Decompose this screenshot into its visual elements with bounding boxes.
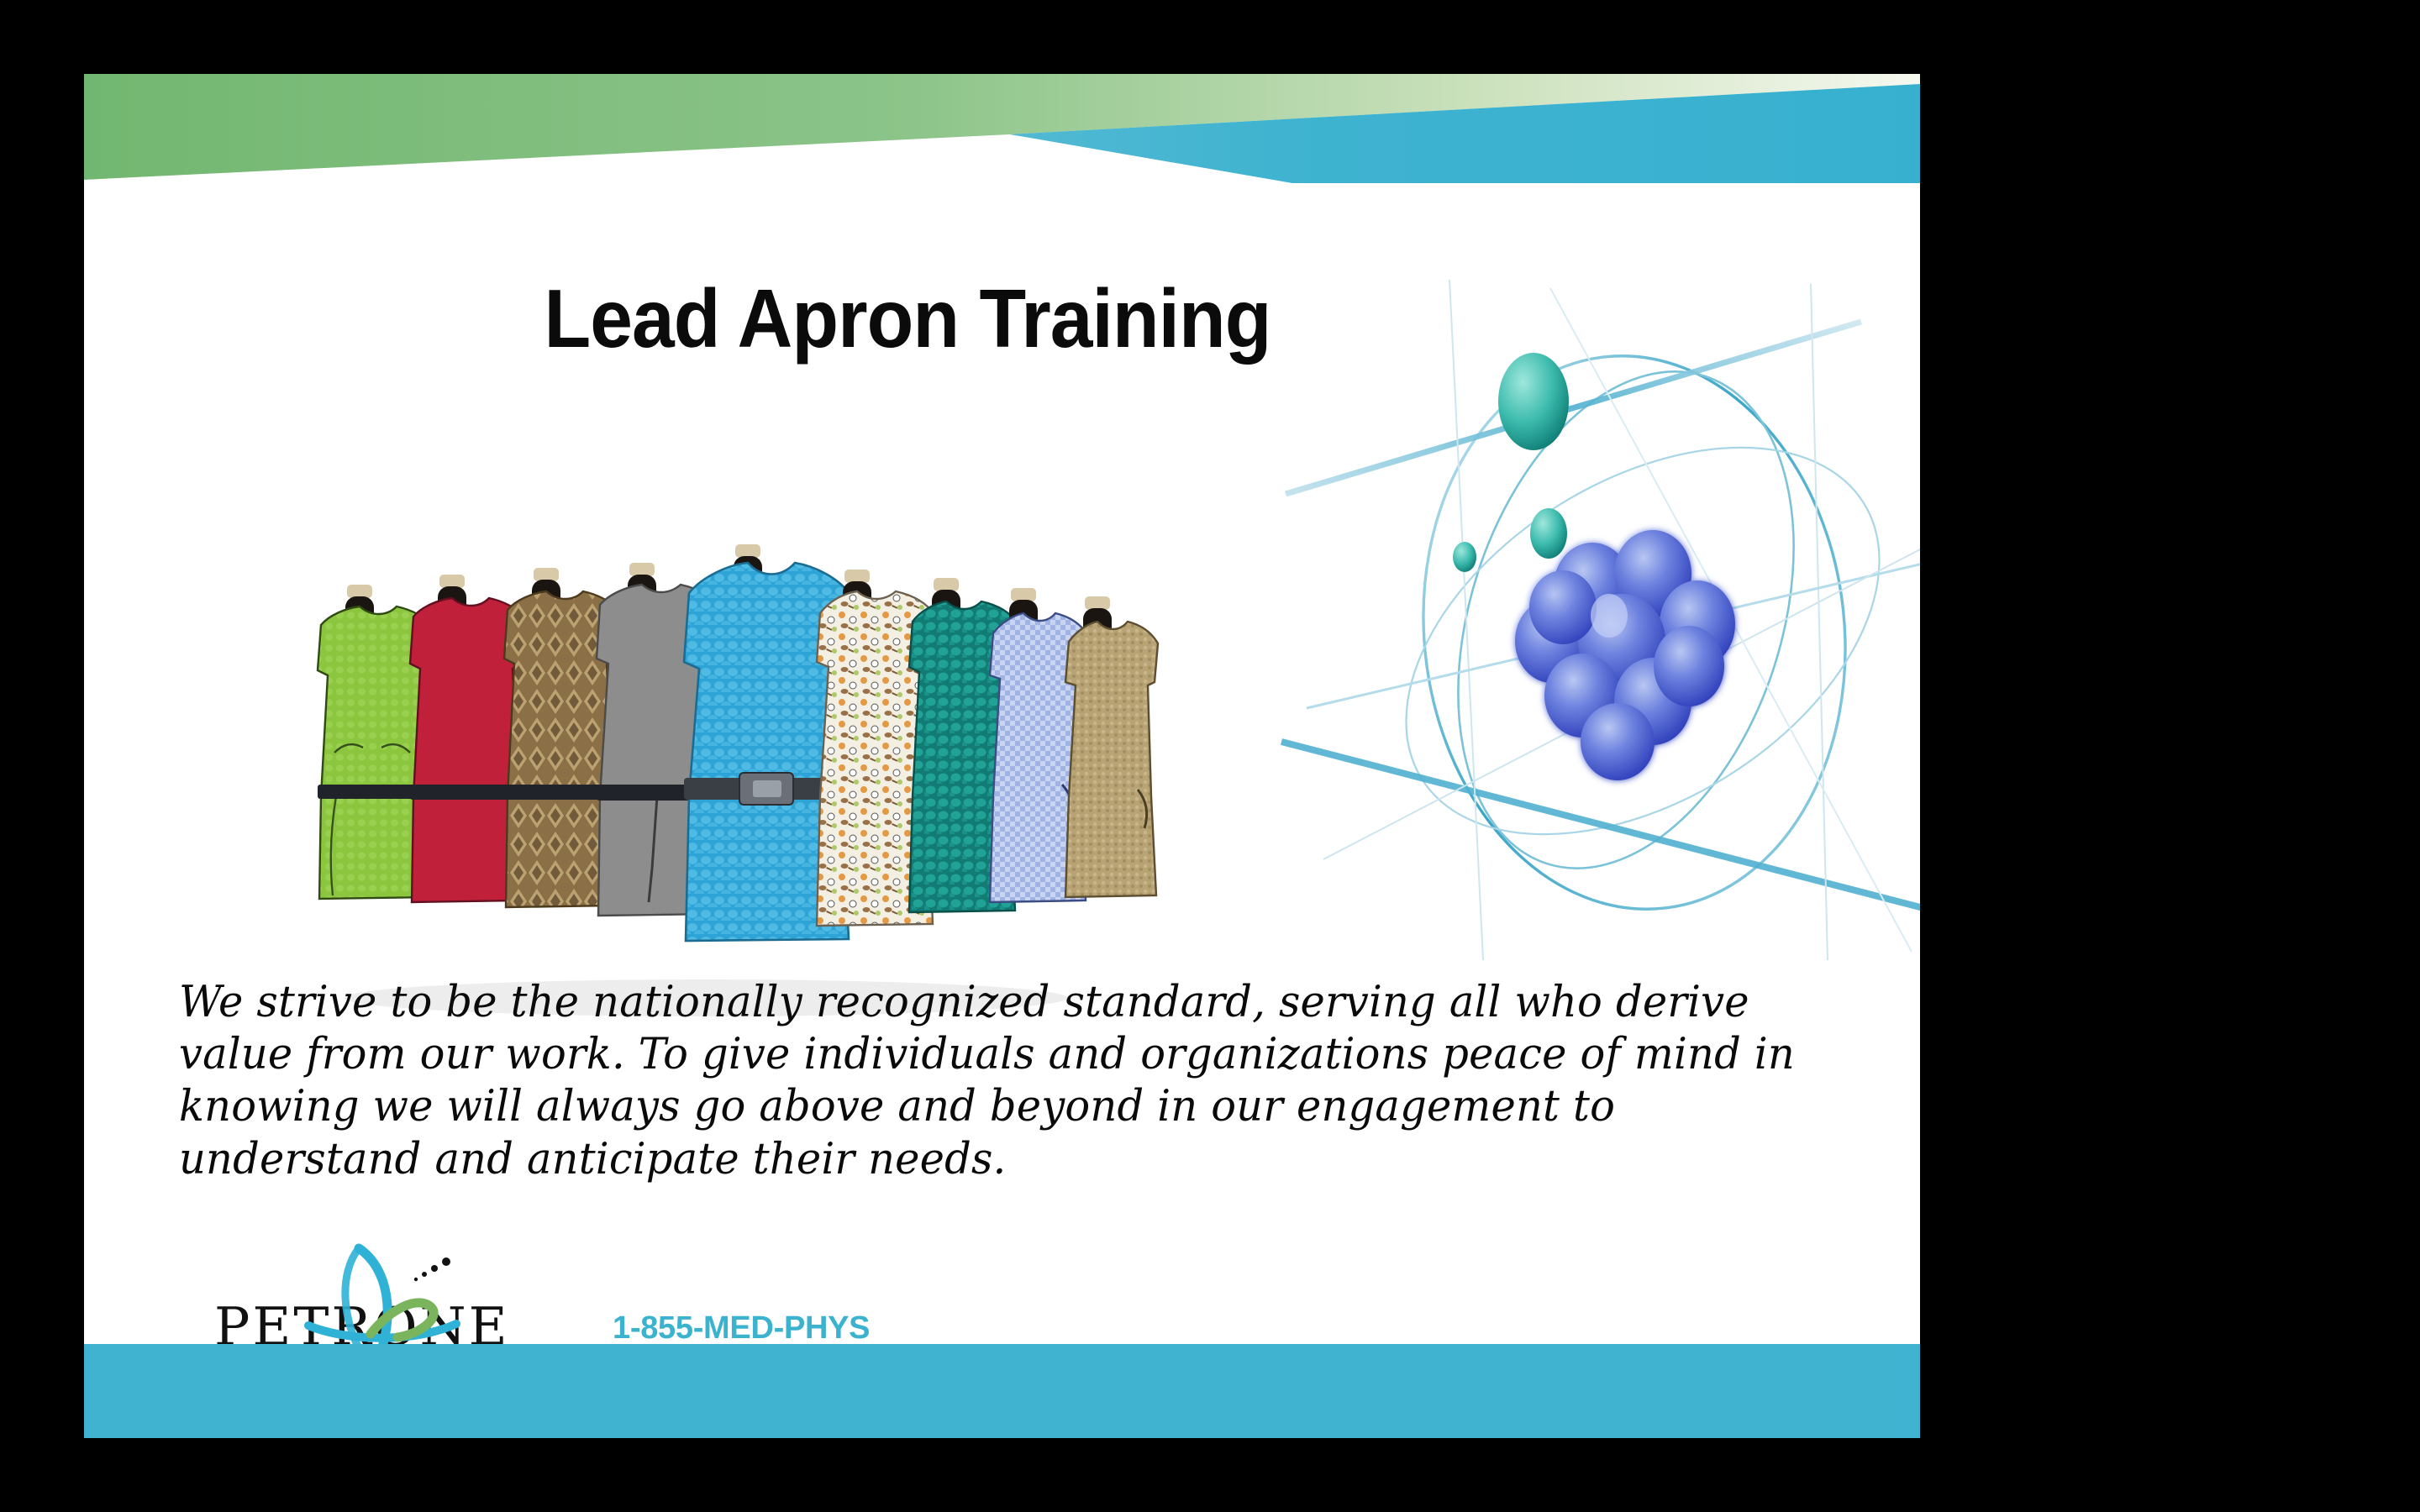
orbit-streak xyxy=(1286,322,1861,494)
orbit-streak xyxy=(1811,284,1828,960)
teal-wedge-shape xyxy=(1010,86,1920,183)
electron xyxy=(1453,542,1476,572)
atom-illustration xyxy=(1273,271,1920,969)
mission-statement: We strive to be the nationally recognize… xyxy=(179,977,1801,1186)
slide-header-decoration xyxy=(84,74,1920,183)
green-wedge-shape xyxy=(84,74,1920,180)
presentation-slide: Lead Apron Training xyxy=(84,74,1920,1438)
electron xyxy=(1530,508,1567,559)
screenshot-stage: Lead Apron Training xyxy=(0,0,2420,1512)
lead-aprons-image xyxy=(269,544,1160,1027)
electron xyxy=(1498,353,1569,450)
orbit-streak xyxy=(1449,280,1483,960)
apron-tan xyxy=(1065,596,1158,897)
slide-footer-band xyxy=(84,1344,1920,1438)
teal-wedge-shape-lower xyxy=(1010,84,1920,183)
